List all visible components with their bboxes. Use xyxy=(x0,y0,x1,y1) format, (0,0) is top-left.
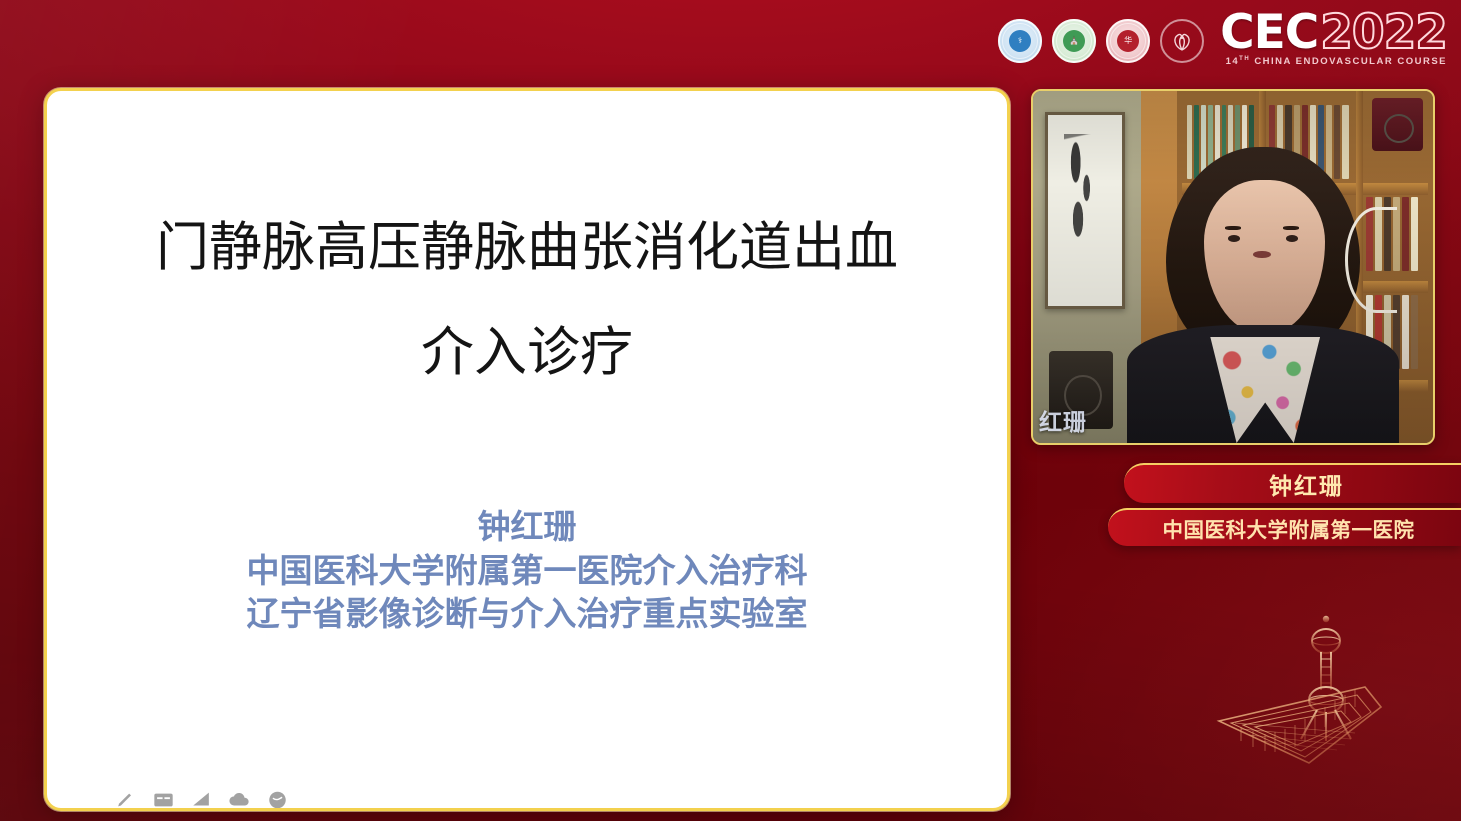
speaker-organization-banner: 中国医科大学附属第一医院 xyxy=(1108,508,1461,546)
conference-logo-bar: ⚕ ⛪ 华 CEC 2022 1 xyxy=(998,12,1447,70)
video-vignette xyxy=(1033,91,1433,443)
video-scene: 红珊 xyxy=(1033,91,1433,443)
chart-icon xyxy=(189,789,214,811)
slide-author-name: 钟红珊 xyxy=(47,506,1007,549)
cec-edition-number: 14 xyxy=(1226,57,1240,68)
slide-title-line-1: 门静脉高压静脉曲张消化道出血 xyxy=(156,217,898,278)
cec-subtitle: 14TH CHINA ENDOVASCULAR COURSE xyxy=(1220,56,1447,67)
cec-course-name: CHINA ENDOVASCULAR COURSE xyxy=(1254,57,1447,68)
globe-icon xyxy=(265,789,290,811)
speaker-organization-text: 中国医科大学附属第一医院 xyxy=(1163,513,1415,543)
slide-title: 门静脉高压静脉曲张消化道出血 介入诊疗 xyxy=(47,221,1007,379)
association-logo-1-icon: ⚕ xyxy=(998,19,1042,63)
association-logo-4-icon xyxy=(1160,19,1204,63)
slide-affiliation-line-2: 辽宁省影像诊断与介入治疗重点实验室 xyxy=(47,592,1007,636)
slide-affiliation-line-1: 中国医科大学附属第一医院介入治疗科 xyxy=(47,549,1007,593)
speaker-video-tile[interactable]: 红珊 xyxy=(1031,89,1435,445)
slide-author-block: 钟红珊 中国医科大学附属第一医院介入治疗科 辽宁省影像诊断与介入治疗重点实验室 xyxy=(47,506,1007,636)
oriental-pearl-tower-icon xyxy=(1205,557,1425,807)
association-logo-2-icon: ⛪ xyxy=(1052,19,1096,63)
video-watermark: 红珊 xyxy=(1039,403,1087,437)
association-logo-3-icon: 华 xyxy=(1106,19,1150,63)
cloud-icon xyxy=(227,789,252,811)
cec-year-text: 2022 xyxy=(1320,12,1447,53)
cec-wordmark: CEC 2022 14TH CHINA ENDOVASCULAR COURSE xyxy=(1220,12,1447,70)
speaker-name-text: 钟红珊 xyxy=(1269,467,1344,501)
slide-footer-logo-strip xyxy=(113,789,290,811)
presentation-slide[interactable]: 门静脉高压静脉曲张消化道出血 介入诊疗 钟红珊 中国医科大学附属第一医院介入治疗… xyxy=(44,88,1010,811)
slide-title-line-2: 介入诊疗 xyxy=(47,326,1007,379)
cec-brand-text: CEC xyxy=(1220,12,1318,53)
presentation-stage: ⚕ ⛪ 华 CEC 2022 1 xyxy=(0,0,1461,821)
pen-icon xyxy=(113,789,138,811)
cec-edition-suffix: TH xyxy=(1239,56,1250,62)
speaker-name-banner: 钟红珊 xyxy=(1124,463,1461,503)
card-icon xyxy=(151,789,176,811)
